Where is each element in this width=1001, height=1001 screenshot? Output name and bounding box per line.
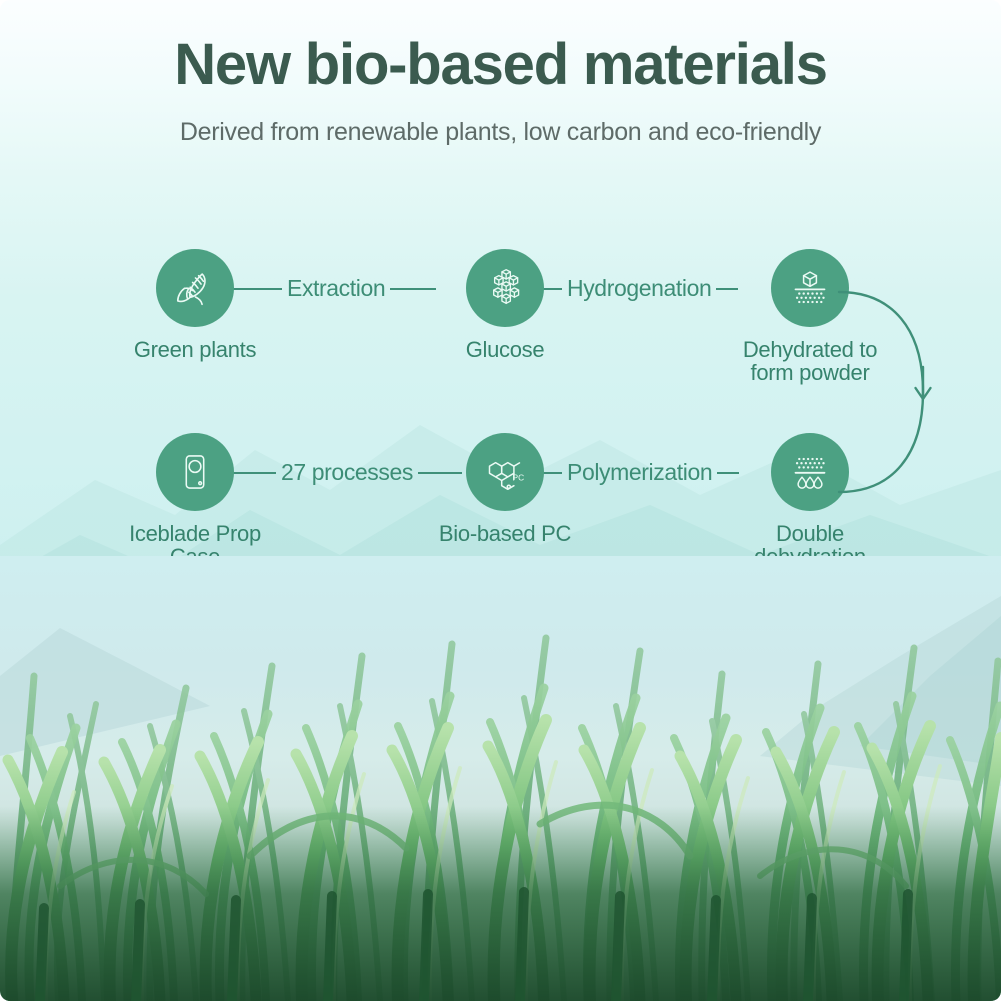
wrap-around-arrow-icon [835,285,985,500]
sugarcane-photo [0,556,1001,1001]
sugarcane-blades [0,556,1001,1001]
flow-node-label: Green plants [115,338,275,361]
powder-cube-icon [786,264,834,312]
pc-molecule-icon: PC [481,448,529,496]
phone-case-icon [173,450,217,494]
flow-node-iceblade-case[interactable]: Iceblade Prop Case [115,433,275,569]
water-droplets-icon [786,448,834,496]
flow-node-label: Bio-based PC [425,522,585,545]
flow-node-icon-bubble: PC [466,433,544,511]
flow-node-bio-based-pc[interactable]: PC Bio-based PC [425,433,585,545]
sugar-cubes-icon [482,265,528,311]
flow-node-label: Glucose [425,338,585,361]
connector-label: Polymerization [562,459,717,486]
process-flow-diagram: Extraction Hydrogenation 27 processes Po… [0,0,1001,580]
corn-icon [172,265,218,311]
flow-node-green-plants[interactable]: Green plants [115,249,275,361]
flow-node-glucose[interactable]: Glucose [425,249,585,361]
connector-label: Hydrogenation [562,275,716,302]
connector-label: Extraction [282,275,390,302]
svg-text:PC: PC [513,473,525,483]
infographic-poster: New bio-based materials Derived from ren… [0,0,1001,1001]
connector-label: 27 processes [276,459,418,486]
flow-node-icon-bubble [466,249,544,327]
flow-node-icon-bubble [156,433,234,511]
flow-node-icon-bubble [156,249,234,327]
